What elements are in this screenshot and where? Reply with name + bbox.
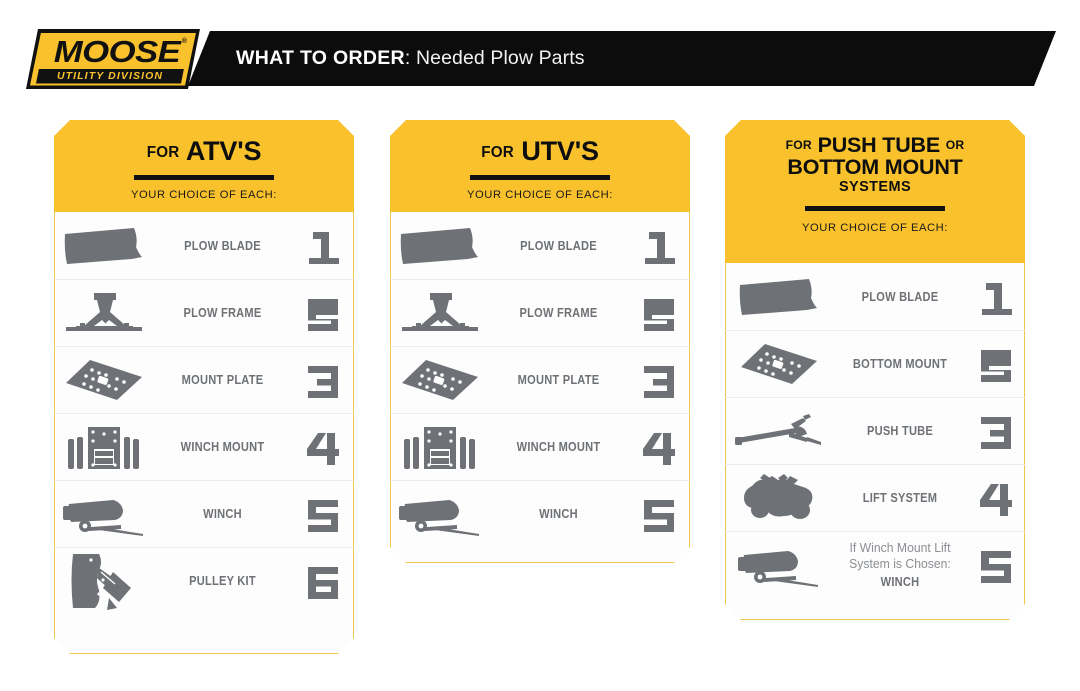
card-push-tube-bottom-mount: FOR PUSH TUBE OR BOTTOM MOUNT SYSTEMS YO… [725,120,1025,620]
list-item: PLOW FRAME [390,279,690,346]
choice-label: YOUR CHOICE OF EACH: [725,222,1025,234]
list-item-number [628,226,690,266]
list-item-note: If Winch Mount Lift System is Chosen: [835,541,965,572]
list-item: PUSH TUBE [725,397,1025,464]
mount-plate-icon [54,357,153,403]
title-divider [805,206,945,211]
push-tube-icon [725,412,833,450]
card-header-utvs: FOR UTV'S YOUR CHOICE OF EACH: [390,120,690,212]
list-item-number [292,226,354,266]
card-title-conjunction: OR [946,138,965,152]
list-item-label: WINCH [161,507,283,521]
card-header-atvs: FOR ATV'S YOUR CHOICE OF EACH: [54,120,354,212]
list-item: LIFT SYSTEM [725,464,1025,531]
list-item-number [628,494,690,534]
list-item: PULLEY KIT [54,547,354,614]
card-title-utvs: FOR UTV'S [390,120,690,166]
title-divider [470,175,610,180]
list-item: MOUNT PLATE [390,346,690,413]
list-item-label: PLOW BLADE [841,290,959,304]
list-item: MOUNT PLATE [54,346,354,413]
cards-container: FOR ATV'S YOUR CHOICE OF EACH: PLOW BLAD… [0,0,1080,691]
list-item-number [967,411,1025,451]
card-title-push-tube: FOR PUSH TUBE OR BOTTOM MOUNT SYSTEMS [725,120,1025,195]
list-item-label: MOUNT PLATE [497,373,619,387]
card-utvs: FOR UTV'S YOUR CHOICE OF EACH: PLOW BLAD… [390,120,690,563]
card-title-prefix: FOR [147,144,180,161]
lift-system-icon [725,472,833,524]
list-item-number [628,427,690,467]
plow-blade-icon [390,226,489,266]
pulley-kit-icon [54,550,153,612]
list-item-number [292,561,354,601]
list-item-label: LIFT SYSTEM [841,491,959,505]
plow-blade-icon [54,226,153,266]
list-item-number [967,277,1025,317]
infographic-page: MOOSE ® UTILITY DIVISION WHAT TO ORDER: … [0,0,1080,691]
list-item-number [628,293,690,333]
card-title-main: PUSH TUBE [818,133,940,157]
list-item: WINCH [54,480,354,547]
winch-icon [725,543,833,587]
card-title-prefix: FOR [481,144,514,161]
list-item: PLOW BLADE [54,212,354,279]
list-item-label: WINCH MOUNT [497,440,619,454]
list-item-number [628,360,690,400]
list-item: PLOW BLADE [725,263,1025,330]
list-item-label: PLOW FRAME [497,306,619,320]
parts-list-atvs: PLOW BLADE [54,212,354,614]
card-title-atvs: FOR ATV'S [54,120,354,166]
list-item-label: WINCH [497,507,619,521]
plow-blade-icon [725,277,833,317]
list-item-label: PULLEY KIT [161,574,283,588]
plow-frame-icon [390,290,489,336]
plow-frame-icon [54,290,153,336]
list-item-number [292,360,354,400]
card-title-main: UTV'S [521,136,598,166]
list-item-label: BOTTOM MOUNT [841,357,959,371]
list-item-label: PLOW BLADE [161,239,283,253]
list-item-label: PLOW FRAME [161,306,283,320]
list-item-number [967,344,1025,384]
choice-label: YOUR CHOICE OF EACH: [54,189,354,201]
bottom-mount-icon [725,341,833,387]
card-atvs: FOR ATV'S YOUR CHOICE OF EACH: PLOW BLAD… [54,120,354,654]
winch-mount-icon [54,423,153,471]
mount-plate-icon [390,357,489,403]
card-title-prefix: FOR [786,138,812,152]
list-item: WINCH MOUNT [54,413,354,480]
list-item-label: PLOW BLADE [497,239,619,253]
list-item: PLOW FRAME [54,279,354,346]
winch-icon [390,492,489,536]
list-item: If Winch Mount Lift System is Chosen: WI… [725,531,1025,598]
card-title-main: ATV'S [186,136,261,166]
title-divider [134,175,274,180]
card-header-push-tube: FOR PUSH TUBE OR BOTTOM MOUNT SYSTEMS YO… [725,120,1025,263]
list-item: WINCH [390,480,690,547]
list-item-number [967,545,1025,585]
parts-list-push-tube: PLOW BLADE [725,263,1025,598]
list-item-number [967,478,1025,518]
list-item: PLOW BLADE [390,212,690,279]
list-item-label: MOUNT PLATE [161,373,283,387]
list-item-label: PUSH TUBE [841,424,959,438]
list-item-label: WINCH MOUNT [161,440,283,454]
list-item: BOTTOM MOUNT [725,330,1025,397]
list-item-number [292,293,354,333]
list-item-label: WINCH [841,575,959,589]
list-item-number [292,427,354,467]
winch-icon [54,492,153,536]
choice-label: YOUR CHOICE OF EACH: [390,189,690,201]
list-item-label-group: If Winch Mount Lift System is Chosen: WI… [841,541,959,588]
card-title-main-2: BOTTOM MOUNT [725,157,1025,179]
list-item-number [292,494,354,534]
list-item: WINCH MOUNT [390,413,690,480]
winch-mount-icon [390,423,489,471]
card-title-line3: SYSTEMS [725,180,1025,195]
parts-list-utvs: PLOW BLADE [390,212,690,547]
